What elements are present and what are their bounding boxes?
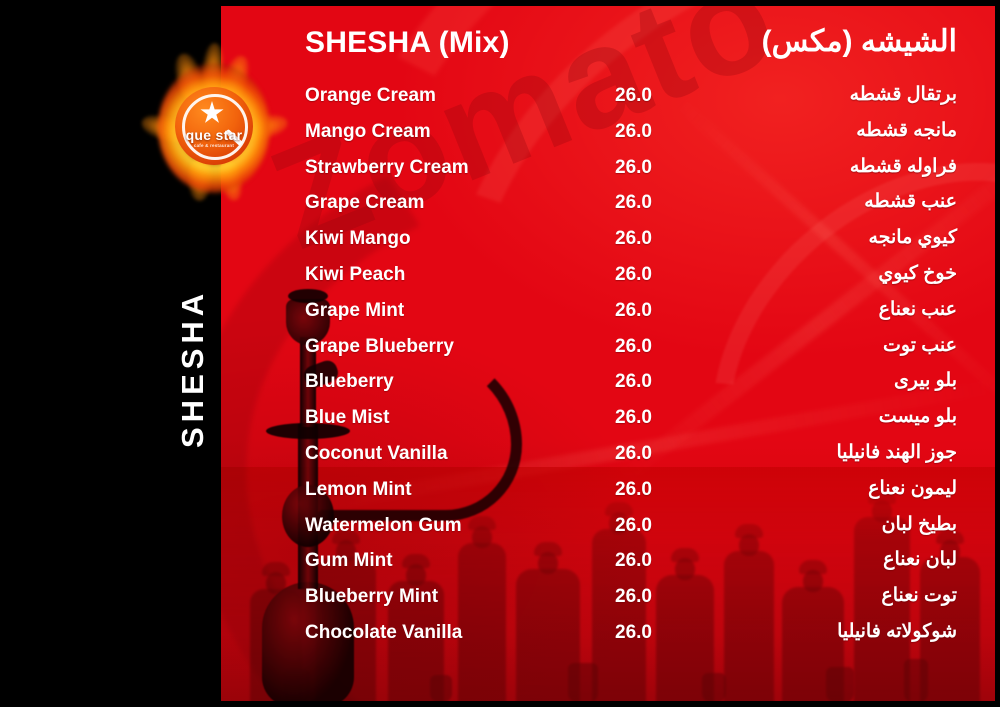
menu-item-price: 26.0 [615, 157, 652, 179]
menu-item-price: 26.0 [615, 121, 652, 143]
menu-item-name-ar: بلو ميست [879, 405, 957, 428]
menu-item-name-ar: عنب توت [883, 334, 957, 357]
menu-page: Zomato® que star cafe & restaurant SHESH… [0, 0, 1000, 707]
menu-item-name-en: Blue Mist [305, 407, 389, 429]
menu-item-name-en: Lemon Mint [305, 479, 412, 501]
menu-item-row: Blue Mist26.0بلو ميست [221, 407, 995, 443]
right-border [995, 0, 1000, 707]
menu-item-name-ar: ليمون نعناع [868, 477, 957, 500]
menu-item-price: 26.0 [615, 586, 652, 608]
menu-item-name-ar: عنب نعناع [879, 298, 957, 321]
menu-item-price: 26.0 [615, 228, 652, 250]
menu-item-name-en: Gum Mint [305, 550, 393, 572]
menu-item-name-en: Kiwi Mango [305, 228, 411, 250]
menu-item-price: 26.0 [615, 479, 652, 501]
menu-item-name-en: Coconut Vanilla [305, 443, 448, 465]
menu-item-name-en: Grape Mint [305, 300, 404, 322]
section-title-en: SHESHA (Mix) [305, 26, 510, 60]
menu-item-name-ar: مانجه قشطه [856, 119, 957, 142]
menu-item-price: 26.0 [615, 336, 652, 358]
bottom-border [0, 701, 1000, 707]
menu-item-price: 26.0 [615, 622, 652, 644]
menu-item-price: 26.0 [615, 264, 652, 286]
menu-item-row: Grape Blueberry26.0عنب توت [221, 336, 995, 372]
menu-item-row: Mango Cream26.0مانجه قشطه [221, 121, 995, 157]
menu-item-row: Grape Cream26.0عنب قشطه [221, 192, 995, 228]
menu-item-name-ar: جوز الهند فانيليا [836, 441, 957, 464]
menu-item-row: Kiwi Mango26.0كيوي مانجه [221, 228, 995, 264]
menu-item-name-en: Blueberry [305, 371, 394, 393]
menu-item-name-en: Orange Cream [305, 85, 436, 107]
section-heading: SHESHA (Mix) الشيشه (مكس) [221, 26, 995, 72]
menu-item-name-en: Grape Blueberry [305, 336, 454, 358]
menu-item-row: Watermelon Gum26.0بطيخ لبان [221, 515, 995, 551]
menu-item-name-ar: شوكولاته فانيليا [837, 620, 957, 643]
menu-item-price: 26.0 [615, 371, 652, 393]
menu-item-price: 26.0 [615, 192, 652, 214]
menu-content: SHESHA (Mix) الشيشه (مكس) Orange Cream26… [221, 0, 995, 701]
menu-item-row: Gum Mint26.0لبان نعناع [221, 550, 995, 586]
menu-item-row: Blueberry26.0بلو بيرى [221, 371, 995, 407]
menu-item-name-ar: برتقال قشطه [850, 83, 957, 106]
menu-item-price: 26.0 [615, 407, 652, 429]
menu-item-name-ar: خوخ كيوي [878, 262, 957, 285]
menu-item-price: 26.0 [615, 443, 652, 465]
menu-item-name-ar: عنب قشطه [864, 190, 957, 213]
menu-item-name-ar: لبان نعناع [883, 548, 957, 571]
menu-item-name-en: Strawberry Cream [305, 157, 469, 179]
menu-item-row: Lemon Mint26.0ليمون نعناع [221, 479, 995, 515]
menu-item-name-en: Grape Cream [305, 192, 424, 214]
menu-item-row: Blueberry Mint26.0توت نعناع [221, 586, 995, 622]
menu-item-price: 26.0 [615, 300, 652, 322]
menu-item-name-ar: كيوي مانجه [869, 226, 957, 249]
menu-item-name-en: Watermelon Gum [305, 515, 462, 537]
menu-item-name-en: Chocolate Vanilla [305, 622, 462, 644]
menu-item-price: 26.0 [615, 515, 652, 537]
menu-item-name-ar: بلو بيرى [894, 369, 957, 392]
menu-item-row: Strawberry Cream26.0فراوله قشطه [221, 157, 995, 193]
menu-item-row: Coconut Vanilla26.0جوز الهند فانيليا [221, 443, 995, 479]
menu-item-price: 26.0 [615, 550, 652, 572]
menu-item-price: 26.0 [615, 85, 652, 107]
menu-item-name-ar: فراوله قشطه [850, 155, 957, 178]
menu-item-row: Chocolate Vanilla26.0شوكولاته فانيليا [221, 622, 995, 658]
menu-item-row: Grape Mint26.0عنب نعناع [221, 300, 995, 336]
menu-item-name-ar: توت نعناع [881, 584, 957, 607]
section-title-ar: الشيشه (مكس) [762, 24, 957, 59]
menu-item-row: Kiwi Peach26.0خوخ كيوي [221, 264, 995, 300]
menu-item-name-en: Kiwi Peach [305, 264, 405, 286]
menu-item-name-ar: بطيخ لبان [882, 513, 957, 536]
menu-item-name-en: Blueberry Mint [305, 586, 438, 608]
vertical-shesha-label: SHESHA [173, 218, 213, 448]
menu-item-name-en: Mango Cream [305, 121, 431, 143]
menu-item-row: Orange Cream26.0برتقال قشطه [221, 85, 995, 121]
menu-item-list: Orange Cream26.0برتقال قشطهMango Cream26… [221, 85, 995, 658]
